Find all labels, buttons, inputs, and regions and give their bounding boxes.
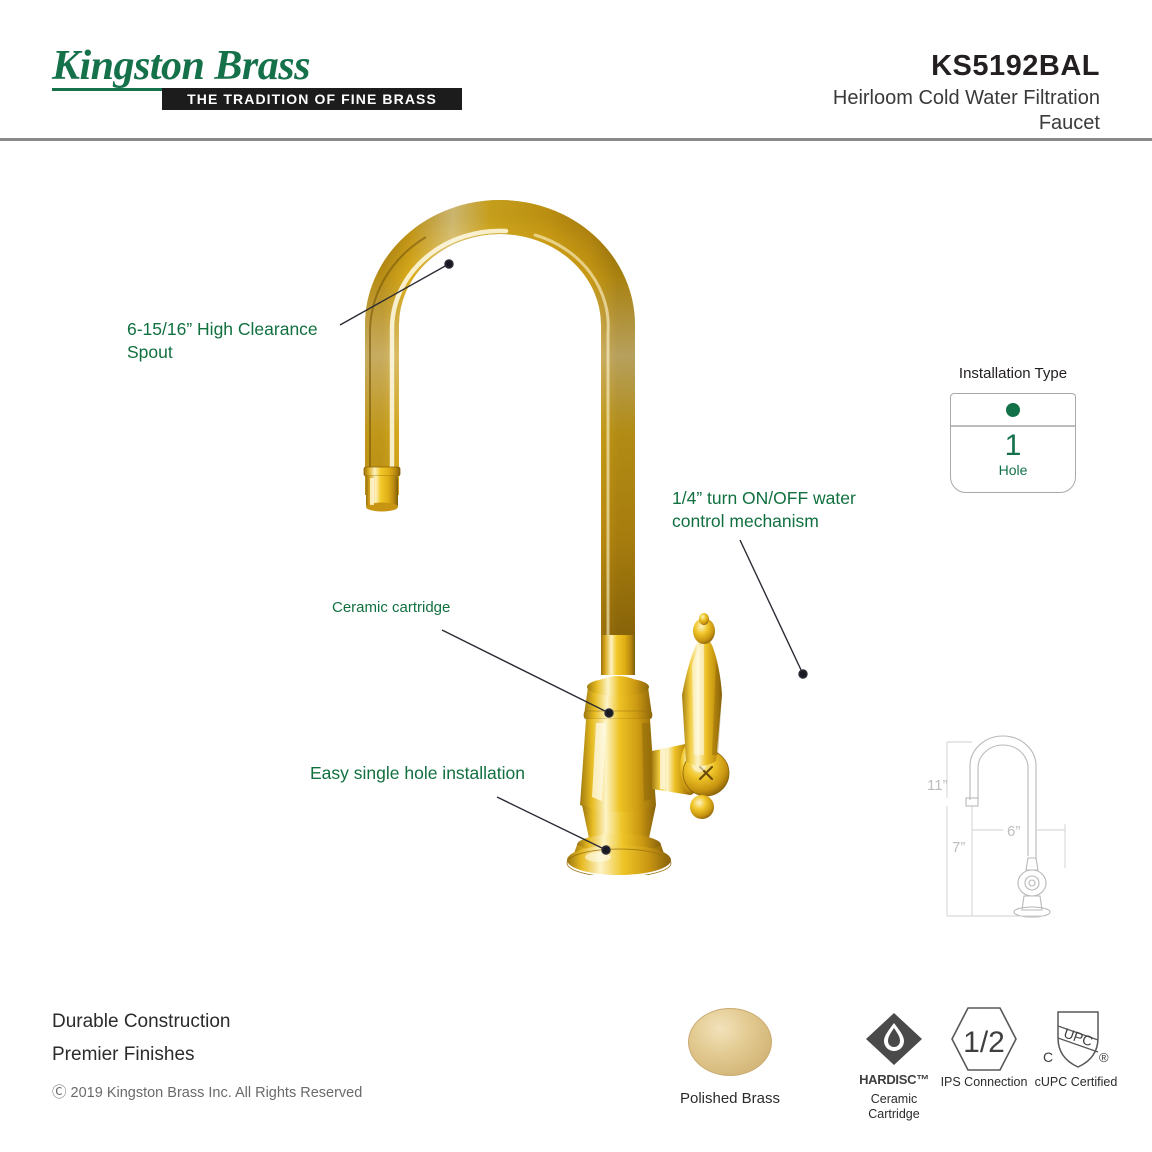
- badge-caption: cUPC Certified: [1028, 1075, 1124, 1090]
- installation-type-panel: Installation Type 1 Hole: [938, 364, 1088, 493]
- finish-swatch-polished-brass: [688, 1008, 772, 1076]
- finish-name: Polished Brass: [660, 1090, 800, 1107]
- installation-type-box: 1 Hole: [950, 393, 1076, 493]
- feature-item: Premier Finishes: [52, 1038, 472, 1071]
- installation-hole-count: 1: [951, 430, 1075, 462]
- copyright-notice: Ⓒ 2019 Kingston Brass Inc. All Rights Re…: [52, 1081, 362, 1102]
- callout-spout-clearance: 6-15/16” High Clearance Spout: [127, 318, 357, 364]
- badge-cupc-certified: UPC C ® cUPC Certified: [1028, 1008, 1124, 1090]
- finish-swatch-block: Polished Brass: [660, 1008, 800, 1107]
- hardisc-wordmark: HARDISC™: [846, 1072, 942, 1087]
- ips-size-value: 1/2: [963, 1026, 1005, 1059]
- faucet-product-image: [330, 195, 750, 875]
- dimension-diagram: 11” 7” 6”: [925, 728, 1095, 928]
- badge-ips-connection: 1/2 IPS Connection: [936, 1008, 1032, 1090]
- dimension-height-overall: 11”: [927, 777, 948, 794]
- cupc-shield-icon: UPC C ®: [1039, 1004, 1113, 1074]
- installation-type-title: Installation Type: [938, 364, 1088, 383]
- installation-box-divider: [951, 425, 1075, 427]
- badge-caption: Ceramic Cartridge: [846, 1092, 942, 1122]
- hole-dot-icon: [1006, 403, 1020, 417]
- dimension-height-base: 7”: [952, 839, 965, 856]
- feature-item: Durable Construction: [52, 1005, 472, 1038]
- logo-tagline-bar: THE TRADITION OF FINE BRASS: [162, 88, 462, 110]
- footer-feature-list: Durable Construction Premier Finishes: [52, 1005, 472, 1071]
- header-divider: [0, 138, 1152, 141]
- hardisc-diamond-icon: [863, 1010, 925, 1068]
- installation-hole-label: Hole: [951, 462, 1075, 478]
- cupc-right-letter: ®: [1099, 1050, 1109, 1065]
- logo-tagline: THE TRADITION OF FINE BRASS: [187, 91, 437, 107]
- cupc-left-letter: C: [1043, 1049, 1053, 1065]
- badge-hardisc-ceramic-cartridge: HARDISC™ Ceramic Cartridge: [846, 1008, 942, 1122]
- brand-logo: Kingston Brass THE TRADITION OF FINE BRA…: [52, 44, 462, 108]
- badge-caption: IPS Connection: [936, 1075, 1032, 1090]
- model-number: KS5192BAL: [931, 50, 1100, 83]
- logo-wordmark: Kingston Brass: [52, 44, 462, 88]
- ips-hexagon-icon: 1/2: [947, 1002, 1021, 1076]
- product-name: Heirloom Cold Water Filtration Faucet: [770, 86, 1100, 136]
- dimension-reach: 6”: [1007, 823, 1020, 840]
